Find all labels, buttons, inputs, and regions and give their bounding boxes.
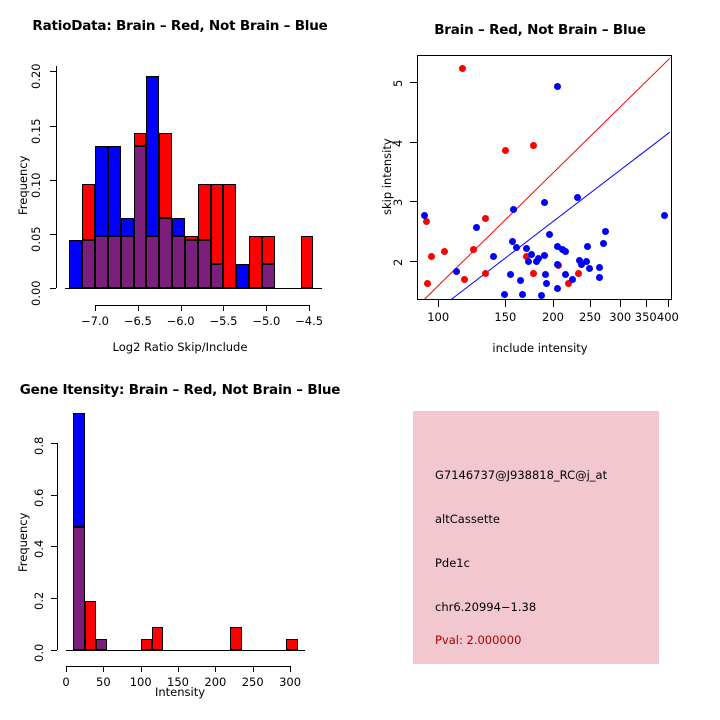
scatter-x-tick-label: 250 (573, 310, 607, 324)
scatter-y-tick (410, 201, 417, 202)
gene-histogram-bar (286, 639, 297, 650)
ratio-histogram-bar-overlap (108, 236, 121, 288)
ratio-histogram-x-tick (95, 305, 96, 311)
scatter-point-not-brain (586, 265, 593, 272)
scatter-point-brain (424, 280, 431, 287)
ratio-histogram-y-tick-label: 0.00 (29, 280, 43, 306)
gene-histogram-baseline (66, 650, 305, 651)
gene-histogram-y-tick (51, 650, 57, 651)
scatter-clip (417, 55, 672, 300)
ratio-histogram-bar-overlap (262, 264, 275, 288)
ratio-histogram-bar (262, 236, 275, 264)
ratio-histogram-x-tick-label: −7.0 (78, 314, 112, 328)
gene-histogram-x-tick-label: 200 (198, 675, 232, 689)
scatter-point-brain (530, 270, 537, 277)
gene-histogram-x-tick (178, 666, 179, 672)
gene-histogram-x-tick (215, 666, 216, 672)
scatter-point-not-brain (421, 212, 428, 219)
scatter-point-not-brain (453, 268, 460, 275)
ratio-histogram-bar (108, 146, 121, 236)
figure-canvas: RatioData: Brain – Red, Not Brain – Blue… (0, 0, 720, 720)
gene-histogram-plot-area: 0.00.20.40.60.8050100150200250300 (0, 360, 360, 720)
ratio-histogram-y-tick (50, 126, 56, 127)
scatter-point-brain (502, 147, 509, 154)
gene-histogram-x-tick (290, 666, 291, 672)
gene-histogram-bar (85, 601, 96, 650)
scatter-x-tick-label: 400 (651, 310, 685, 324)
gene-histogram-x-tick-label: 250 (236, 675, 270, 689)
scatter-point-not-brain (473, 224, 480, 231)
scatter-x-tick (646, 300, 647, 307)
gene-histogram-y-tick-label: 0.2 (32, 592, 46, 610)
scatter-point-brain (575, 270, 582, 277)
scatter-point-not-brain (546, 231, 553, 238)
scatter-point-not-brain (543, 280, 550, 287)
gene-histogram-x-tick-label: 150 (161, 675, 195, 689)
gene-histogram-y-tick (51, 598, 57, 599)
scatter-plot-area: 2345100150200250300350400 (360, 0, 720, 360)
info-pval: Pval: 2.000000 (435, 633, 521, 647)
info-locus: chr6.20994−1.38 (435, 600, 536, 614)
ratio-histogram-y-tick-label: 0.20 (29, 64, 43, 90)
ratio-histogram-y-tick-label: 0.05 (29, 226, 43, 252)
ratio-histogram-y-tick-label: 0.15 (29, 118, 43, 144)
ratio-histogram-bar (82, 184, 95, 240)
scatter-x-tick-label: 200 (536, 310, 570, 324)
scatter-y-tick (410, 82, 417, 83)
info-gene-symbol: Pde1c (435, 556, 470, 570)
scatter-point-not-brain (507, 271, 514, 278)
gene-histogram-x-tick-label: 100 (124, 675, 158, 689)
ratio-histogram-y-tick (50, 71, 56, 72)
ratio-histogram-y-tick-label: 0.10 (29, 172, 43, 198)
scatter-point-brain (470, 246, 477, 253)
info-probe-id: G7146737@J938818_RC@j_at (435, 468, 607, 482)
scatter-point-not-brain (541, 199, 548, 206)
ratio-histogram-x-tick-label: −5.0 (249, 314, 283, 328)
gene-histogram-x-tick (141, 666, 142, 672)
ratio-histogram-bar-overlap (95, 236, 108, 288)
scatter-point-not-brain (554, 83, 561, 90)
scatter-x-tick (590, 300, 591, 307)
ratio-histogram-bar-overlap (121, 236, 134, 288)
ratio-histogram-x-tick-label: −5.5 (206, 314, 240, 328)
scatter-point-not-brain (501, 291, 508, 298)
scatter-x-tick (505, 300, 506, 307)
scatter-point-not-brain (517, 277, 524, 284)
ratio-histogram-bar (95, 146, 108, 236)
scatter-point-not-brain (578, 261, 585, 268)
ratio-histogram-bar-overlap (198, 240, 211, 288)
scatter-x-tick (553, 300, 554, 307)
info-event-type: altCassette (435, 512, 500, 526)
scatter-y-tick-label: 5 (391, 80, 405, 87)
scatter-y-tick-label: 3 (391, 199, 405, 206)
scatter-x-tick-label: 150 (488, 310, 522, 324)
gene-histogram-x-tick (103, 666, 104, 672)
ratio-histogram-y-tick (50, 180, 56, 181)
ratio-histogram-plot-area: 0.000.050.100.150.20−7.0−6.5−6.0−5.5−5.0… (0, 0, 360, 360)
scatter-x-tick (438, 300, 439, 307)
ratio-histogram-bar (236, 264, 249, 288)
scatter-point-not-brain (525, 258, 532, 265)
scatter-point-not-brain (541, 252, 548, 259)
gene-histogram-x-tick (253, 666, 254, 672)
scatter-point-not-brain (600, 240, 607, 247)
ratio-histogram-bar (301, 236, 314, 288)
gene-histogram-x-tick (66, 666, 67, 672)
scatter-y-tick-label: 2 (391, 259, 405, 266)
scatter-y-tick-label: 4 (391, 139, 405, 146)
gene-histogram-y-tick-label: 0.8 (32, 436, 46, 454)
ratio-histogram-bar-overlap (146, 236, 159, 288)
gene-histogram-bar (230, 627, 241, 650)
gene-histogram-y-tick (51, 546, 57, 547)
scatter-point-not-brain (569, 276, 576, 283)
scatter-point-brain (482, 215, 489, 222)
ratio-histogram-bar (172, 218, 185, 236)
gene-histogram-bar (152, 627, 163, 650)
ratio-histogram-x-tick (309, 305, 310, 311)
scatter-point-not-brain (513, 244, 520, 251)
gene-histogram-x-tick-label: 0 (49, 675, 83, 689)
scatter-regression-line (424, 58, 670, 300)
ratio-histogram-bar-overlap (185, 240, 198, 288)
scatter-point-not-brain (562, 248, 569, 255)
scatter-point-brain (482, 270, 489, 277)
gene-histogram-y-axis (57, 443, 58, 650)
scatter-point-brain (423, 218, 430, 225)
ratio-histogram-x-tick (138, 305, 139, 311)
ratio-histogram-x-axis (95, 305, 309, 306)
ratio-histogram-bar (121, 218, 134, 236)
gene-histogram-y-tick (51, 443, 57, 444)
scatter-point-brain (530, 142, 537, 149)
ratio-histogram-y-tick (50, 234, 56, 235)
ratio-histogram-x-tick (223, 305, 224, 311)
ratio-histogram-bar (211, 184, 224, 264)
scatter-point-not-brain (519, 291, 526, 298)
ratio-histogram-bar-overlap (172, 236, 185, 288)
gene-histogram-bar-overlap (96, 639, 107, 650)
gene-histogram-bar-overlap (73, 527, 84, 650)
scatter-point-not-brain (596, 264, 603, 271)
gene-histogram-x-tick-label: 300 (273, 675, 307, 689)
gene-histogram-bar (141, 639, 152, 650)
panel-gene-histogram: Gene Itensity: Brain – Red, Not Brain – … (0, 360, 360, 720)
ratio-histogram-bar (146, 76, 159, 236)
ratio-histogram-bar (249, 236, 262, 288)
ratio-histogram-x-tick (181, 305, 182, 311)
ratio-histogram-bar-overlap (134, 146, 147, 288)
scatter-point-not-brain (584, 243, 591, 250)
ratio-histogram-x-tick-label: −4.5 (292, 314, 326, 328)
ratio-histogram-bar-overlap (211, 264, 224, 288)
scatter-point-brain (461, 276, 468, 283)
scatter-point-not-brain (510, 206, 517, 213)
gene-histogram-bar (73, 413, 84, 526)
ratio-histogram-x-tick-label: −6.5 (121, 314, 155, 328)
scatter-x-tick-label: 100 (421, 310, 455, 324)
ratio-histogram-bar (159, 133, 172, 217)
gene-histogram-y-tick-label: 0.6 (32, 488, 46, 506)
scatter-point-not-brain (538, 292, 545, 299)
scatter-point-not-brain (661, 212, 668, 219)
scatter-y-tick (410, 261, 417, 262)
scatter-x-tick (668, 300, 669, 307)
panel-intensity-scatter: Brain – Red, Not Brain – Blue skip inten… (360, 0, 720, 360)
ratio-histogram-bar (223, 184, 236, 288)
ratio-histogram-y-axis (56, 66, 57, 288)
gene-histogram-y-tick (51, 495, 57, 496)
gene-histogram-x-tick-label: 50 (86, 675, 120, 689)
ratio-histogram-y-tick (50, 288, 56, 289)
ratio-histogram-baseline (65, 288, 322, 289)
ratio-histogram-bar (134, 133, 147, 146)
panel-ratio-histogram: RatioData: Brain – Red, Not Brain – Blue… (0, 0, 360, 360)
ratio-histogram-bar (69, 240, 82, 288)
scatter-point-not-brain (523, 245, 530, 252)
ratio-histogram-bar-overlap (82, 240, 95, 288)
scatter-point-not-brain (490, 253, 497, 260)
scatter-x-tick (620, 300, 621, 307)
gene-histogram-y-tick-label: 0.0 (32, 644, 46, 662)
scatter-point-not-brain (554, 285, 561, 292)
gene-histogram-y-tick-label: 0.4 (32, 540, 46, 558)
scatter-point-not-brain (542, 271, 549, 278)
ratio-histogram-x-tick (266, 305, 267, 311)
panel-gene-info: G7146737@J938818_RC@j_at altCassette Pde… (413, 411, 659, 664)
scatter-point-brain (459, 65, 466, 72)
ratio-histogram-bar-overlap (159, 218, 172, 288)
scatter-point-not-brain (596, 274, 603, 281)
ratio-histogram-bar (198, 184, 211, 240)
scatter-y-tick (410, 142, 417, 143)
ratio-histogram-x-tick-label: −6.0 (164, 314, 198, 328)
scatter-point-not-brain (602, 228, 609, 235)
scatter-point-brain (428, 253, 435, 260)
scatter-point-brain (441, 248, 448, 255)
